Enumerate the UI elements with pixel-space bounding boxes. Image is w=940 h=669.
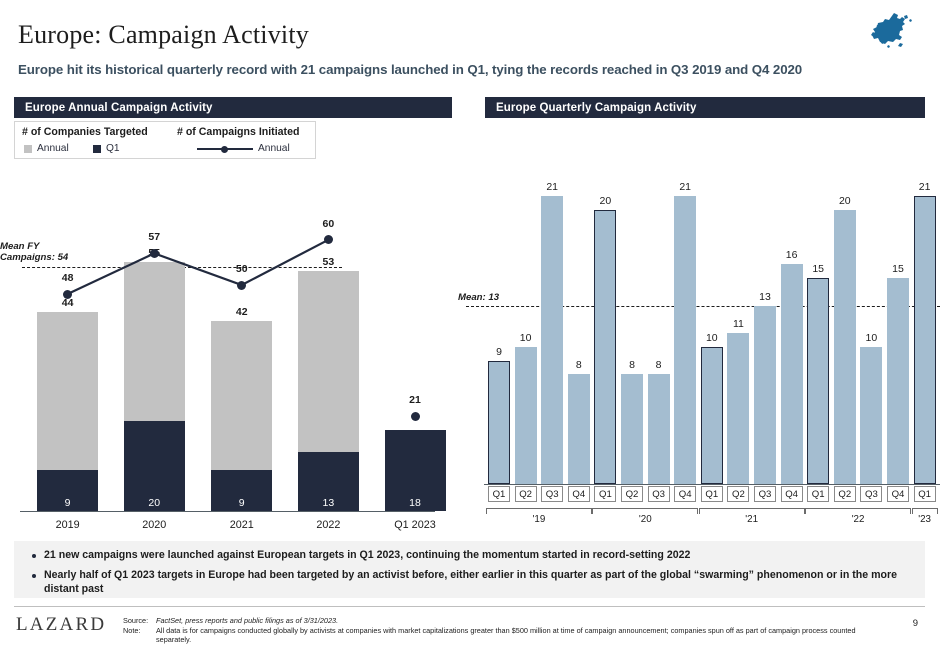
quarterly-bar — [515, 347, 537, 484]
quarterly-bar-value-label: 20 — [586, 195, 624, 207]
subtitle: Europe hit its historical quarterly reco… — [18, 62, 802, 77]
quarterly-bar-value-label: 9 — [480, 346, 518, 358]
legend-item-q1-bar: Q1 — [93, 143, 120, 154]
quarterly-mean-label: Mean: 13 — [458, 292, 499, 303]
quarterly-bar — [754, 306, 776, 484]
legend-line-marker-icon — [197, 145, 253, 153]
quarterly-bar-value-label: 10 — [852, 332, 890, 344]
quarterly-bar — [781, 264, 803, 484]
bullet-text: Nearly half of Q1 2023 targets in Europe… — [44, 569, 912, 596]
chart-legend: # of Companies Targeted # of Campaigns I… — [14, 121, 316, 159]
quarterly-mean-line — [466, 306, 940, 307]
quarterly-bar-value-label: 11 — [719, 318, 757, 330]
quarterly-bar — [887, 278, 909, 484]
quarterly-bar-highlighted — [488, 361, 510, 484]
bullet-item: Nearly half of Q1 2023 targets in Europe… — [32, 569, 912, 596]
year-label: '23 — [912, 514, 938, 525]
legend-label-q1: Q1 — [106, 143, 120, 154]
footer-divider — [14, 606, 925, 607]
quarterly-category-label: Q3 — [648, 486, 670, 502]
quarterly-bar — [834, 210, 856, 484]
quarterly-category-label: Q3 — [860, 486, 882, 502]
quarterly-bar — [541, 196, 563, 484]
legend-title-companies-targeted: # of Companies Targeted — [22, 126, 148, 138]
legend-label-annual: Annual — [37, 143, 69, 154]
quarterly-category-label: Q2 — [834, 486, 856, 502]
europe-quarterly-campaign-activity-chart: Mean: 139Q110Q221Q38Q420Q18Q28Q321Q410Q1… — [470, 160, 940, 530]
quarterly-category-label: Q1 — [807, 486, 829, 502]
annual-line-marker — [150, 249, 159, 258]
year-label: '19 — [486, 514, 592, 525]
year-label: '22 — [805, 514, 911, 525]
footer-note-value: All data is for campaigns conducted glob… — [156, 626, 863, 645]
legend-swatch-q1-icon — [93, 145, 101, 153]
quarterly-category-label: Q4 — [674, 486, 696, 502]
annual-line-value-label: 50 — [220, 263, 264, 275]
quarterly-category-label: Q1 — [701, 486, 723, 502]
quarterly-bar-value-label: 15 — [879, 263, 917, 275]
quarterly-bar-value-label: 21 — [906, 181, 940, 193]
page-title: Europe: Campaign Activity — [18, 20, 309, 50]
europe-map-icon — [864, 10, 922, 52]
quarterly-bar-value-label: 13 — [746, 291, 784, 303]
legend-title-campaigns-initiated: # of Campaigns Initiated — [177, 126, 299, 138]
quarterly-bar — [727, 333, 749, 484]
annual-line-value-label: 60 — [306, 218, 350, 230]
quarterly-category-label: Q1 — [594, 486, 616, 502]
quarterly-bar-value-label: 21 — [533, 181, 571, 193]
slide-root: Europe: Campaign Activity Europe hit its… — [0, 0, 940, 669]
quarterly-category-label: Q4 — [887, 486, 909, 502]
quarterly-category-label: Q2 — [727, 486, 749, 502]
annual-line-value-label: 57 — [132, 231, 176, 243]
legend-item-annual-line: Annual — [197, 143, 290, 154]
quarterly-panel-header: Europe Quarterly Campaign Activity — [485, 97, 925, 118]
annual-campaigns-line — [0, 170, 470, 530]
annual-line-marker — [63, 290, 72, 299]
legend-item-annual-bar: Annual — [24, 143, 69, 154]
quarterly-bar-value-label: 21 — [666, 181, 704, 193]
annual-line-value-label: 21 — [393, 394, 437, 406]
quarterly-category-label: Q2 — [621, 486, 643, 502]
key-takeaways-panel: 21 new campaigns were launched against E… — [14, 541, 925, 598]
lazard-logo: LAZARD — [16, 614, 106, 636]
legend-label-annual-line: Annual — [258, 143, 290, 154]
bullet-dot-icon — [32, 574, 36, 578]
quarterly-bar-highlighted — [807, 278, 829, 484]
europe-annual-campaign-activity-chart: Mean FYCampaigns: 5444920195520202042920… — [0, 170, 470, 530]
year-label: '20 — [592, 514, 698, 525]
footer-notes: Source: FactSet, press reports and publi… — [123, 616, 863, 645]
legend-swatch-annual-icon — [24, 145, 32, 153]
quarterly-category-label: Q2 — [515, 486, 537, 502]
bullet-item: 21 new campaigns were launched against E… — [32, 549, 912, 563]
quarterly-category-label: Q4 — [781, 486, 803, 502]
footer-source-key: Source: — [123, 616, 156, 626]
footer-source-row: Source: FactSet, press reports and publi… — [123, 616, 863, 626]
quarterly-bar-highlighted — [701, 347, 723, 484]
quarterly-bar-highlighted — [914, 196, 936, 484]
footer-note-row: Note: All data is for campaigns conducte… — [123, 626, 863, 645]
quarterly-category-label: Q1 — [914, 486, 936, 502]
bullet-text: 21 new campaigns were launched against E… — [44, 549, 690, 563]
quarterly-bar — [621, 374, 643, 484]
annual-line-marker — [237, 281, 246, 290]
annual-panel-header: Europe Annual Campaign Activity — [14, 97, 452, 118]
quarterly-bar-value-label: 8 — [640, 359, 678, 371]
footer-note-key: Note: — [123, 626, 156, 645]
quarterly-category-label: Q3 — [541, 486, 563, 502]
quarterly-bar — [648, 374, 670, 484]
quarterly-bar — [860, 347, 882, 484]
year-label: '21 — [699, 514, 805, 525]
quarterly-bar-value-label: 15 — [799, 263, 837, 275]
annual-line-marker — [411, 412, 420, 421]
footer-source-value: FactSet, press reports and public filing… — [156, 616, 863, 626]
quarterly-chart-axis — [484, 484, 940, 485]
quarterly-bar-value-label: 16 — [773, 249, 811, 261]
quarterly-bar-value-label: 10 — [507, 332, 545, 344]
quarterly-bar-value-label: 8 — [560, 359, 598, 371]
quarterly-bar-highlighted — [594, 210, 616, 484]
quarterly-category-label: Q4 — [568, 486, 590, 502]
quarterly-category-label: Q1 — [488, 486, 510, 502]
page-number: 9 — [913, 618, 918, 629]
quarterly-bar-value-label: 10 — [693, 332, 731, 344]
quarterly-bar — [568, 374, 590, 484]
quarterly-category-label: Q3 — [754, 486, 776, 502]
quarterly-bar-value-label: 20 — [826, 195, 864, 207]
bullet-dot-icon — [32, 554, 36, 558]
annual-line-value-label: 48 — [46, 272, 90, 284]
